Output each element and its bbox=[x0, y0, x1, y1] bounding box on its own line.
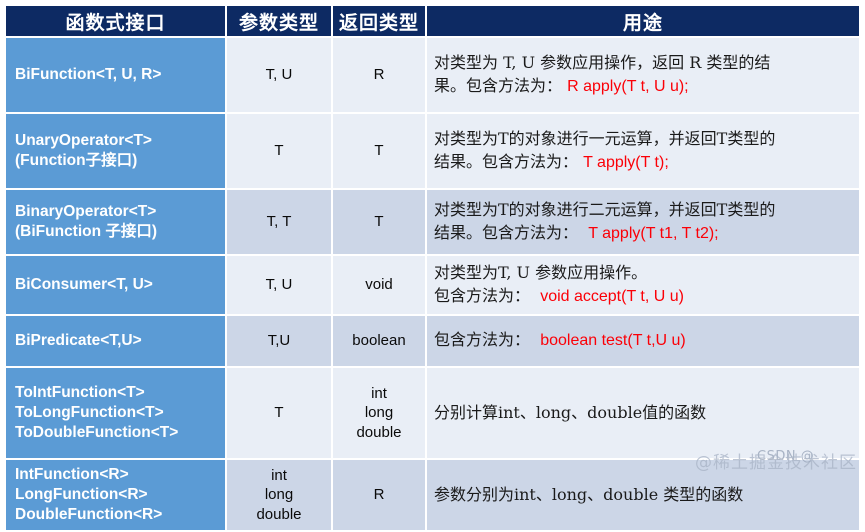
param-line: T, U bbox=[227, 65, 331, 85]
interface-line: (BiFunction 子接口) bbox=[15, 222, 225, 242]
return-line: T bbox=[333, 141, 425, 161]
cell-usage: 对类型为T的对象进行二元运算，并返回T类型的 结果。包含方法为： T apply… bbox=[427, 190, 859, 254]
cell-interface: BiConsumer<T, U> bbox=[6, 256, 225, 314]
usage-prefix: 结果。包含方法为： bbox=[434, 152, 578, 171]
cell-return-type: R bbox=[333, 460, 425, 530]
cell-return-type: T bbox=[333, 114, 425, 188]
cell-usage: 分别计算int、long、double值的函数 bbox=[427, 368, 859, 458]
interface-line: LongFunction<R> bbox=[15, 485, 225, 505]
table-body: BiFunction<T, U, R> T, U R 对类型为 T, U 参数应… bbox=[6, 38, 859, 530]
usage-line: 对类型为 T, U 参数应用操作，返回 R 类型的结 bbox=[434, 52, 853, 74]
column-header-param-type: 参数类型 bbox=[227, 6, 331, 36]
usage-prefix: 包含方法为： bbox=[434, 286, 530, 305]
table-row: ToIntFunction<T> ToLongFunction<T> ToDou… bbox=[6, 368, 859, 458]
table-row: BiFunction<T, U, R> T, U R 对类型为 T, U 参数应… bbox=[6, 38, 859, 112]
cell-interface: BiFunction<T, U, R> bbox=[6, 38, 225, 112]
usage-method-line: 包含方法为： boolean test(T t,U u) bbox=[434, 329, 853, 352]
cell-usage: 参数分别为int、long、double 类型的函数 bbox=[427, 460, 859, 530]
column-header-return-type: 返回类型 bbox=[333, 6, 425, 36]
cell-return-type: int long double bbox=[333, 368, 425, 458]
interface-line: BiPredicate<T,U> bbox=[15, 331, 225, 351]
cell-return-type: boolean bbox=[333, 316, 425, 366]
interface-line: ToIntFunction<T> bbox=[15, 383, 225, 403]
column-header-usage: 用途 bbox=[427, 6, 859, 36]
usage-line: 对类型为T的对象进行一元运算，并返回T类型的 bbox=[434, 128, 853, 150]
table-row: UnaryOperator<T> (Function子接口) T T 对类型为T… bbox=[6, 114, 859, 188]
column-header-interface: 函数式接口 bbox=[6, 6, 225, 36]
return-line: R bbox=[333, 485, 425, 505]
cell-usage: 对类型为T, U 参数应用操作。 包含方法为： void accept(T t,… bbox=[427, 256, 859, 314]
cell-interface: IntFunction<R> LongFunction<R> DoubleFun… bbox=[6, 460, 225, 530]
param-line: T, T bbox=[227, 212, 331, 232]
functional-interface-table: 函数式接口 参数类型 返回类型 用途 BiFunction<T, U, R> T… bbox=[4, 4, 861, 532]
param-line: int bbox=[227, 466, 331, 486]
cell-param-type: int long double bbox=[227, 460, 331, 530]
cell-return-type: R bbox=[333, 38, 425, 112]
interface-line: BiFunction<T, U, R> bbox=[15, 65, 225, 85]
cell-interface: ToIntFunction<T> ToLongFunction<T> ToDou… bbox=[6, 368, 225, 458]
cell-param-type: T, U bbox=[227, 38, 331, 112]
return-line: int bbox=[333, 384, 425, 404]
usage-code: R apply(T t, U u); bbox=[567, 78, 689, 95]
interface-line: IntFunction<R> bbox=[15, 465, 225, 485]
param-line: T bbox=[227, 403, 331, 423]
interface-line: BinaryOperator<T> bbox=[15, 202, 225, 222]
functional-interface-table-container: 函数式接口 参数类型 返回类型 用途 BiFunction<T, U, R> T… bbox=[0, 0, 865, 475]
cell-usage: 对类型为T的对象进行一元运算，并返回T类型的 结果。包含方法为： T apply… bbox=[427, 114, 859, 188]
interface-line: (Function子接口) bbox=[15, 151, 225, 171]
cell-usage: 包含方法为： boolean test(T t,U u) bbox=[427, 316, 859, 366]
cell-return-type: void bbox=[333, 256, 425, 314]
usage-method-line: 结果。包含方法为： T apply(T t); bbox=[434, 151, 853, 174]
interface-line: ToDoubleFunction<T> bbox=[15, 423, 225, 443]
usage-method-line: 果。包含方法为： R apply(T t, U u); bbox=[434, 75, 853, 98]
cell-interface: BinaryOperator<T> (BiFunction 子接口) bbox=[6, 190, 225, 254]
usage-code: T apply(T t1, T t2); bbox=[588, 225, 718, 242]
usage-method-line: 结果。包含方法为： T apply(T t1, T t2); bbox=[434, 222, 853, 245]
cell-return-type: T bbox=[333, 190, 425, 254]
return-line: void bbox=[333, 275, 425, 295]
cell-usage: 对类型为 T, U 参数应用操作，返回 R 类型的结 果。包含方法为： R ap… bbox=[427, 38, 859, 112]
param-line: T bbox=[227, 141, 331, 161]
cell-param-type: T, U bbox=[227, 256, 331, 314]
param-line: long bbox=[227, 485, 331, 505]
table-row: IntFunction<R> LongFunction<R> DoubleFun… bbox=[6, 460, 859, 530]
cell-param-type: T,U bbox=[227, 316, 331, 366]
usage-method-line: 包含方法为： void accept(T t, U u) bbox=[434, 285, 853, 308]
usage-code: void accept(T t, U u) bbox=[540, 288, 684, 305]
usage-prefix: 包含方法为： bbox=[434, 330, 530, 349]
table-header-row: 函数式接口 参数类型 返回类型 用途 bbox=[6, 6, 859, 36]
interface-line: DoubleFunction<R> bbox=[15, 505, 225, 525]
table-row: BiConsumer<T, U> T, U void 对类型为T, U 参数应用… bbox=[6, 256, 859, 314]
usage-code: boolean test(T t,U u) bbox=[540, 332, 686, 349]
table-row: BinaryOperator<T> (BiFunction 子接口) T, T … bbox=[6, 190, 859, 254]
cell-param-type: T bbox=[227, 368, 331, 458]
table-header: 函数式接口 参数类型 返回类型 用途 bbox=[6, 6, 859, 36]
param-line: double bbox=[227, 505, 331, 525]
usage-line: 参数分别为int、long、double 类型的函数 bbox=[434, 484, 853, 506]
return-line: long bbox=[333, 403, 425, 423]
usage-line: 分别计算int、long、double值的函数 bbox=[434, 402, 853, 424]
cell-param-type: T, T bbox=[227, 190, 331, 254]
usage-line: 对类型为T, U 参数应用操作。 bbox=[434, 262, 853, 284]
interface-line: ToLongFunction<T> bbox=[15, 403, 225, 423]
param-line: T, U bbox=[227, 275, 331, 295]
param-line: T,U bbox=[227, 331, 331, 351]
usage-line: 对类型为T的对象进行二元运算，并返回T类型的 bbox=[434, 199, 853, 221]
usage-code: T apply(T t); bbox=[583, 154, 669, 171]
return-line: T bbox=[333, 212, 425, 232]
interface-line: BiConsumer<T, U> bbox=[15, 275, 225, 295]
cell-interface: BiPredicate<T,U> bbox=[6, 316, 225, 366]
table-row: BiPredicate<T,U> T,U boolean 包含方法为： bool… bbox=[6, 316, 859, 366]
cell-interface: UnaryOperator<T> (Function子接口) bbox=[6, 114, 225, 188]
usage-prefix: 结果。包含方法为： bbox=[434, 223, 578, 242]
return-line: R bbox=[333, 65, 425, 85]
return-line: double bbox=[333, 423, 425, 443]
return-line: boolean bbox=[333, 331, 425, 351]
interface-line: UnaryOperator<T> bbox=[15, 131, 225, 151]
cell-param-type: T bbox=[227, 114, 331, 188]
usage-prefix: 果。包含方法为： bbox=[434, 76, 562, 95]
